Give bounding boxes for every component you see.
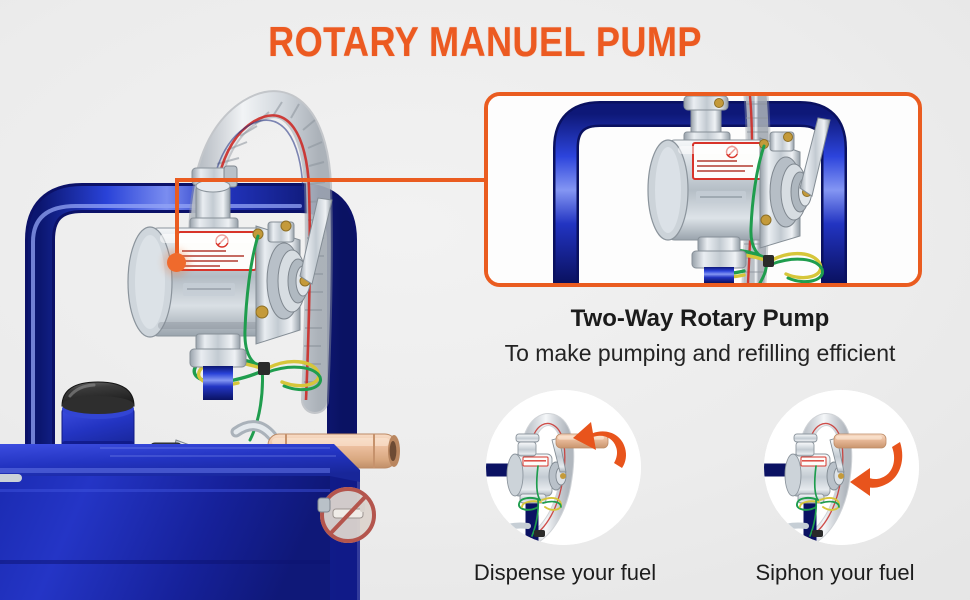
mode-label-dispense: Dispense your fuel bbox=[435, 560, 695, 586]
siphon-illustration bbox=[764, 390, 919, 545]
callout-zoom-illustration bbox=[488, 96, 918, 283]
callout-subheading: To make pumping and refilling efficient bbox=[440, 340, 960, 367]
callout-connector-horizontal bbox=[175, 178, 487, 182]
hero-warning-sticker bbox=[320, 487, 376, 543]
page-title: ROTARY MANUEL PUMP bbox=[68, 18, 902, 66]
callout-connector-vertical bbox=[175, 178, 179, 262]
dispense-illustration bbox=[486, 390, 641, 545]
mode-card-siphon bbox=[764, 390, 919, 545]
infographic-canvas: ROTARY MANUEL PUMP bbox=[0, 0, 970, 600]
callout-heading: Two-Way Rotary Pump bbox=[450, 305, 950, 333]
mode-card-dispense bbox=[486, 390, 641, 545]
hero-tank-body bbox=[0, 444, 376, 600]
callout-marker-dot bbox=[167, 253, 186, 272]
hero-pump-body bbox=[128, 227, 268, 337]
callout-zoom-box bbox=[484, 92, 922, 287]
mode-label-siphon: Siphon your fuel bbox=[705, 560, 965, 586]
hero-pump-outlet bbox=[190, 334, 246, 400]
